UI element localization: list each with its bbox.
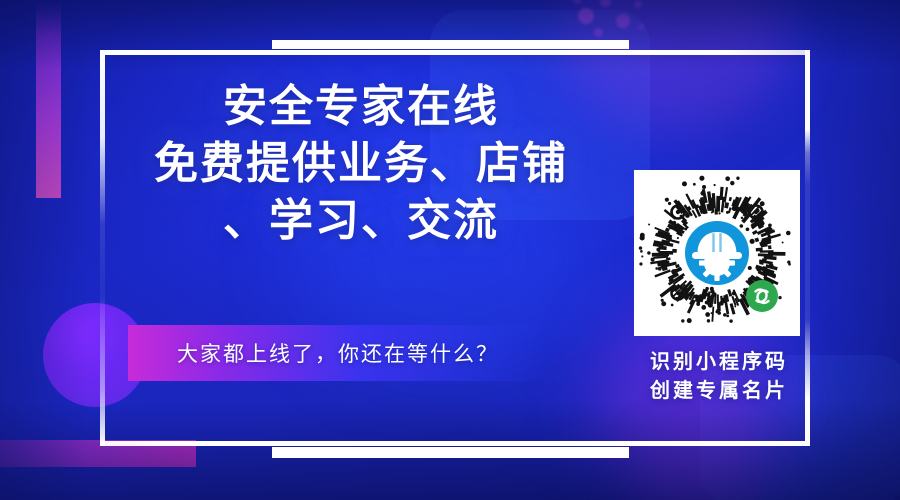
- subtitle-text: 大家都上线了，你还在等什么？: [177, 338, 499, 368]
- headline-line-2: 免费提供业务、店铺: [96, 135, 626, 192]
- headline-line-1: 安全专家在线: [96, 78, 626, 135]
- qr-caption-line-1: 识别小程序码: [634, 348, 804, 377]
- mini-program-qr-card[interactable]: [634, 170, 800, 336]
- safety-helmet-gear-icon: [685, 221, 749, 285]
- qr-caption-line-2: 创建专属名片: [634, 377, 804, 406]
- promo-banner: 安全专家在线 免费提供业务、店铺 、学习、交流 大家都上线了，你还在等什么？: [0, 0, 900, 500]
- headline-line-3: 、学习、交流: [96, 192, 626, 249]
- headline: 安全专家在线 免费提供业务、店铺 、学习、交流: [96, 78, 626, 250]
- subtitle-banner: 大家都上线了，你还在等什么？: [128, 325, 548, 381]
- wechat-miniprogram-badge: [746, 280, 778, 312]
- qr-block: 识别小程序码 创建专属名片: [634, 170, 804, 406]
- qr-caption: 识别小程序码 创建专属名片: [634, 348, 804, 406]
- frame-accent-tab-top: [272, 40, 629, 49]
- mini-program-qr-code[interactable]: [634, 170, 800, 336]
- frame-accent-tab-bottom: [272, 447, 629, 458]
